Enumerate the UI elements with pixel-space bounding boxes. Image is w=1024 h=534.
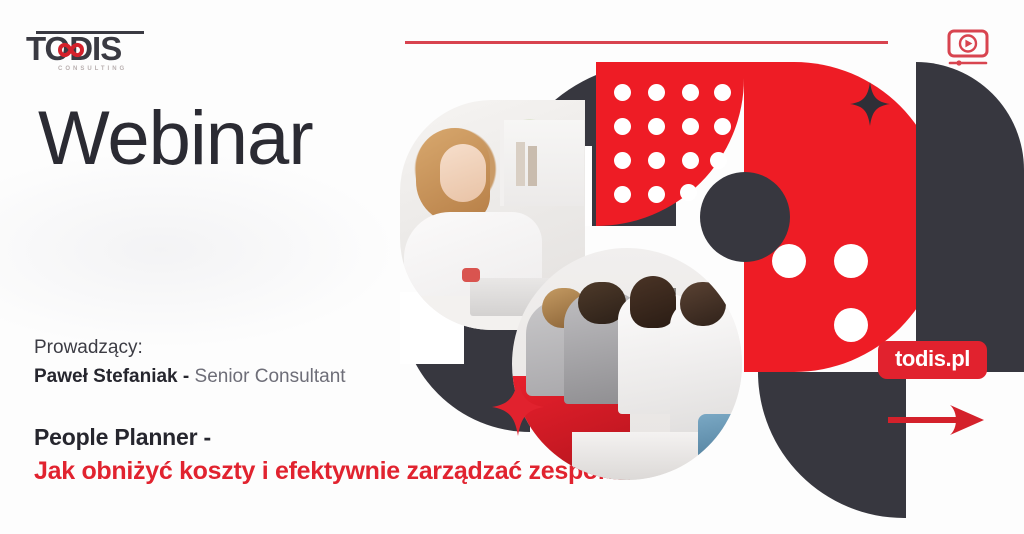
presenter-name: Paweł Stefaniak bbox=[34, 366, 178, 387]
logo-subtitle: CONSULTING bbox=[58, 66, 127, 72]
shape-dark-right-column bbox=[916, 62, 1024, 372]
presenter-line: Paweł Stefaniak - Senior Consultant bbox=[34, 363, 346, 391]
photo-shelf bbox=[500, 120, 584, 206]
photo-face bbox=[440, 144, 486, 202]
presenter-separator: - bbox=[178, 366, 195, 387]
photo-watch bbox=[462, 268, 480, 282]
sparkle-icon-dark bbox=[850, 82, 890, 126]
shape-dark-arc-bottomright bbox=[758, 372, 906, 518]
website-badge[interactable]: todis.pl bbox=[878, 341, 987, 379]
arrow-right-icon bbox=[886, 403, 986, 437]
logo-infinity-icon bbox=[53, 40, 89, 60]
presenter-block: Prowadzący: Paweł Stefaniak - Senior Con… bbox=[34, 335, 346, 391]
collage-graphic bbox=[400, 62, 1024, 462]
webinar-slide: TODIS CONSULTING Webinar Prowadzący: Paw… bbox=[0, 0, 1024, 534]
sparkle-icon-red bbox=[492, 378, 544, 436]
page-title: Webinar bbox=[38, 96, 313, 182]
photo-person-4-head bbox=[680, 282, 726, 326]
todis-logo[interactable]: TODIS CONSULTING bbox=[26, 28, 146, 72]
presenter-role: Senior Consultant bbox=[195, 366, 346, 387]
shape-dark-circle bbox=[700, 172, 790, 262]
top-divider bbox=[405, 41, 888, 44]
photo-jeans bbox=[698, 414, 738, 466]
photo-person-3-head bbox=[630, 276, 676, 328]
team-meeting-photo bbox=[512, 248, 742, 480]
presenter-label: Prowadzący: bbox=[34, 335, 346, 361]
